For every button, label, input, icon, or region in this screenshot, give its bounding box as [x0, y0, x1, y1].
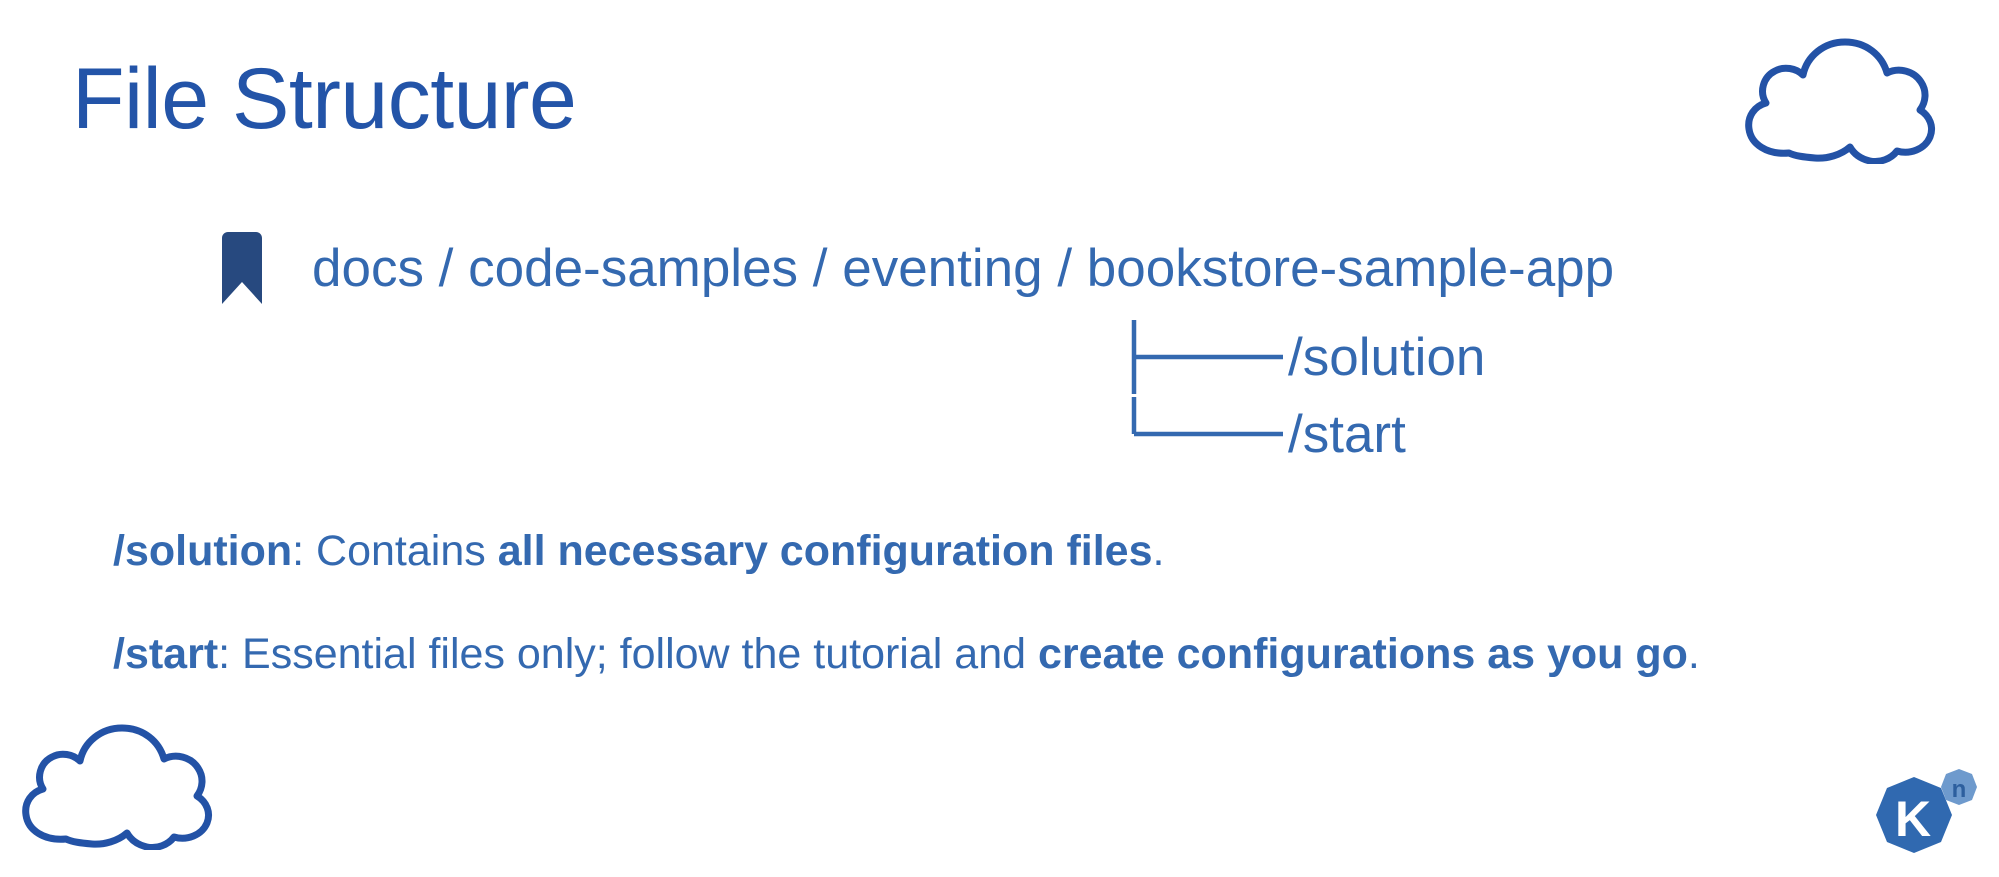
- cloud-icon: [6, 716, 218, 850]
- tree-item-solution: /solution: [1131, 318, 1485, 396]
- body-text: .: [1688, 630, 1700, 678]
- body-emphasis: /solution: [113, 527, 292, 575]
- body-emphasis: all necessary configuration files: [498, 527, 1153, 575]
- slide-canvas: File Structure docs / code-samples / eve…: [0, 0, 1999, 877]
- tree-item-label: /start: [1288, 408, 1406, 461]
- body-text: : Essential files only; follow the tutor…: [218, 630, 1038, 678]
- body-emphasis: create configurations as you go: [1038, 630, 1688, 678]
- knative-logo: K n: [1867, 763, 1979, 861]
- body-text: .: [1153, 527, 1165, 575]
- tree-item-label: /solution: [1288, 331, 1485, 384]
- body-line-solution: /solution: Contains all necessary config…: [113, 527, 1164, 576]
- svg-text:n: n: [1952, 776, 1967, 803]
- elbow-branch-icon: [1131, 395, 1286, 473]
- file-path-row: docs / code-samples / eventing / booksto…: [218, 232, 1614, 304]
- body-emphasis: /start: [113, 630, 218, 678]
- svg-text:K: K: [1895, 791, 1931, 847]
- page-title: File Structure: [72, 56, 576, 142]
- tee-branch-icon: [1131, 318, 1286, 396]
- file-path-text: docs / code-samples / eventing / booksto…: [312, 242, 1614, 295]
- tree-item-start: /start: [1131, 395, 1406, 473]
- cloud-icon: [1727, 28, 1943, 164]
- bookmark-icon: [218, 232, 266, 304]
- body-line-start: /start: Essential files only; follow the…: [113, 630, 1700, 679]
- body-text: : Contains: [292, 527, 498, 575]
